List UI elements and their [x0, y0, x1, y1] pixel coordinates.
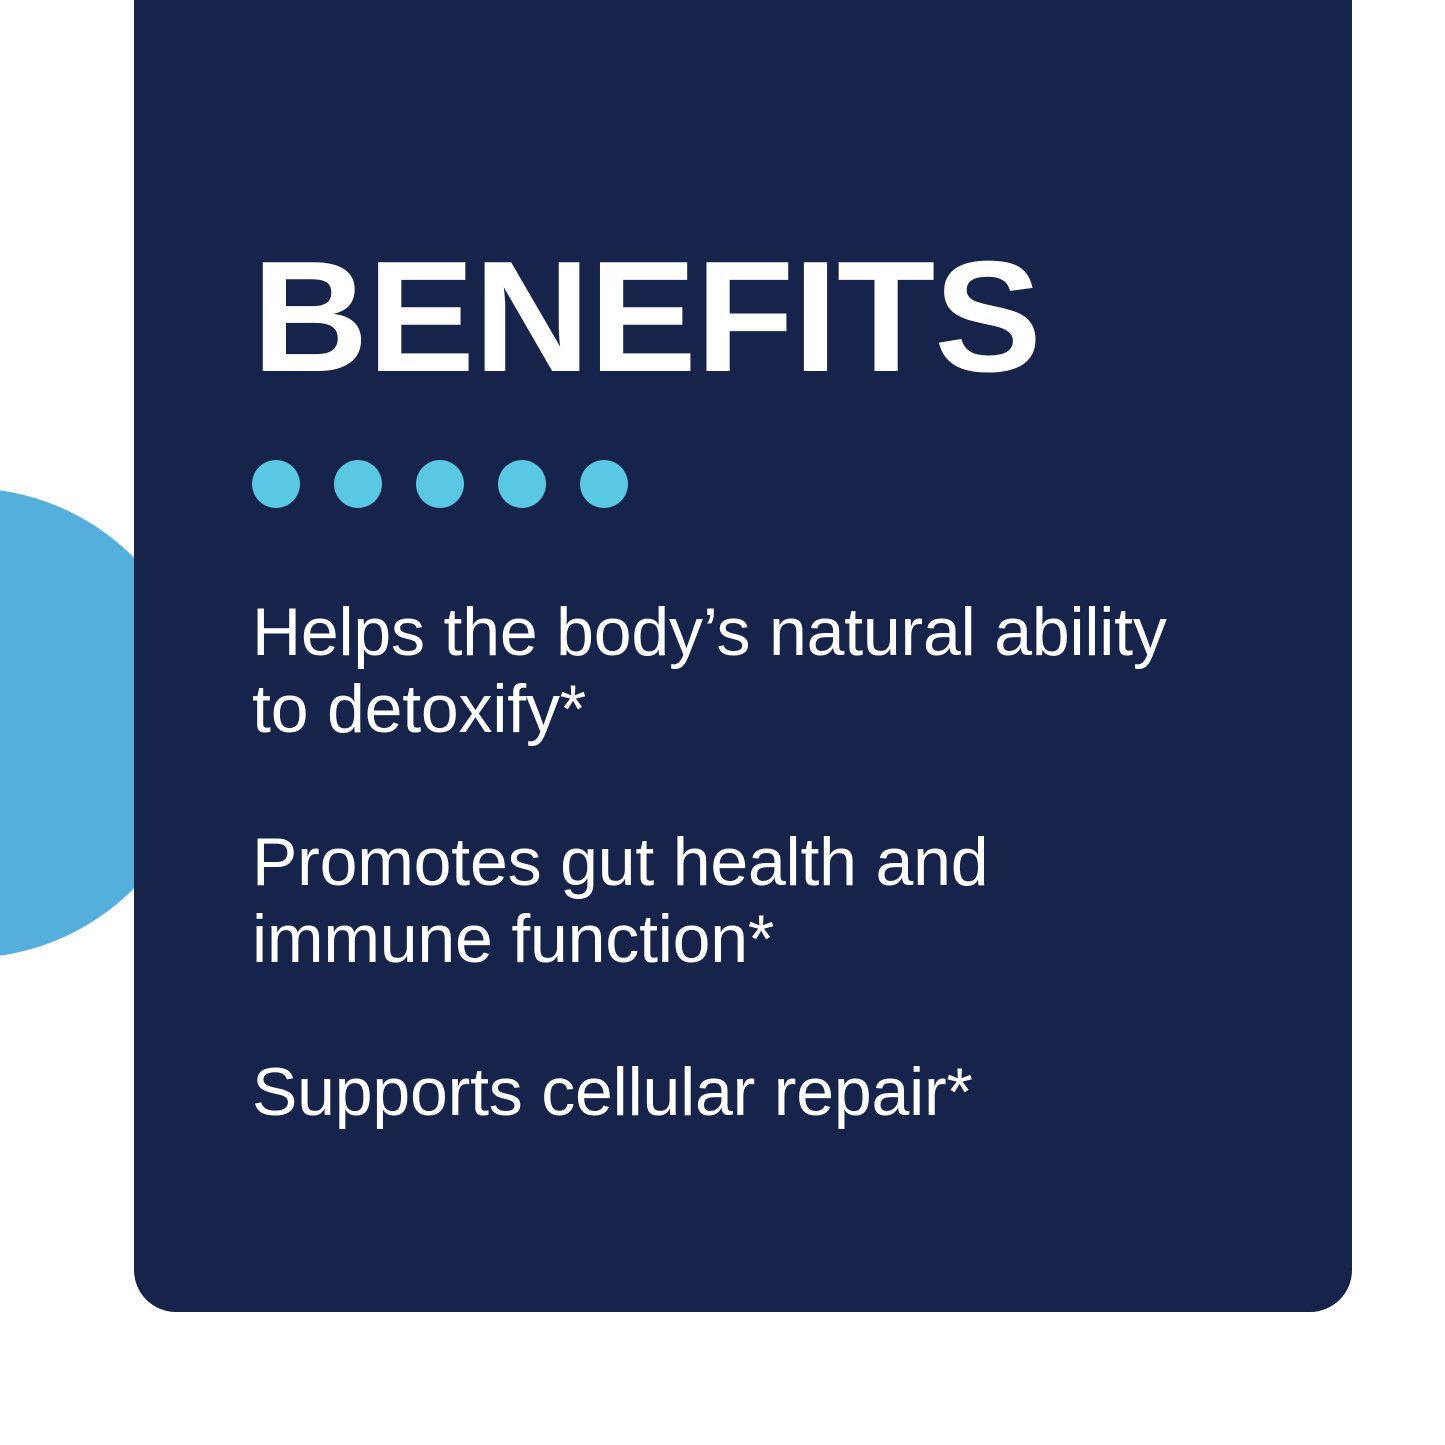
page-title: BENEFITS — [252, 238, 1041, 396]
benefits-card-content: BENEFITS Helps the body’s natural abilit… — [252, 0, 1352, 1312]
dot-decoration-row — [252, 460, 628, 508]
benefits-list: Helps the body’s natural ability to deto… — [252, 594, 1182, 1131]
dot-icon — [580, 460, 628, 508]
list-item: Promotes gut health and immune function* — [252, 824, 1182, 978]
list-item: Helps the body’s natural ability to deto… — [252, 594, 1182, 748]
dot-icon — [416, 460, 464, 508]
benefits-graphic: BENEFITS Helps the body’s natural abilit… — [0, 0, 1445, 1445]
list-item: Supports cellular repair* — [252, 1054, 1182, 1131]
dot-icon — [252, 460, 300, 508]
dot-icon — [498, 460, 546, 508]
benefits-card: BENEFITS Helps the body’s natural abilit… — [134, 0, 1352, 1312]
dot-icon — [334, 460, 382, 508]
